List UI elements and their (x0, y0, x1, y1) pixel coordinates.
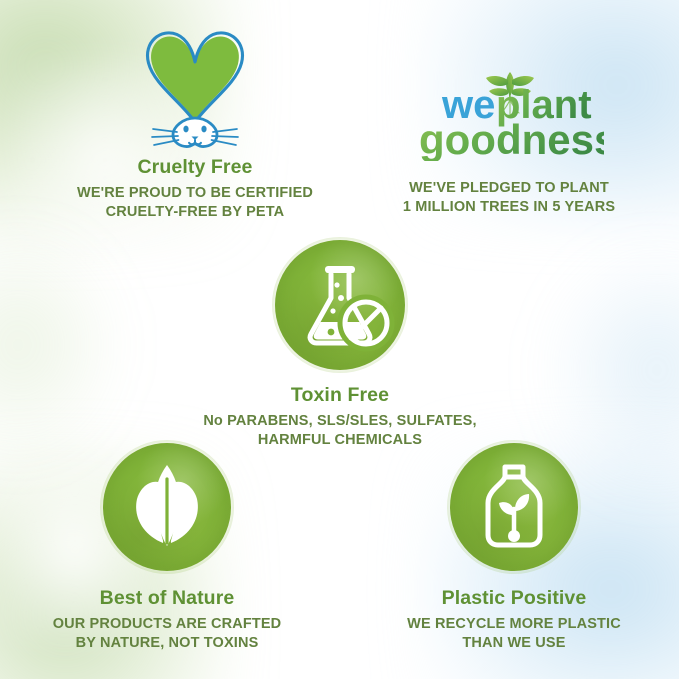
badge-title: Best of Nature (17, 587, 317, 610)
peta-bunny-heart-icon (133, 22, 257, 150)
icon-disc (450, 443, 578, 571)
icon-disc (275, 240, 405, 370)
badge-title: Plastic Positive (364, 587, 664, 610)
badge-plastic-positive: Plastic Positive WE RECYCLE MORE PLASTIC… (364, 443, 664, 653)
flask-prohibited-icon (275, 240, 405, 370)
badge-description: WE'VE PLEDGED TO PLANT 1 MILLION TREES I… (359, 179, 659, 217)
three-leaves-icon (103, 443, 231, 571)
badge-title: Cruelty Free (25, 156, 365, 179)
we-plant-goodness-logo: we plant goodness (414, 56, 604, 161)
badge-description: WE'RE PROUD TO BE CERTIFIED CRUELTY-FREE… (25, 184, 365, 222)
badge-grid: Cruelty Free WE'RE PROUD TO BE CERTIFIED… (0, 0, 679, 679)
logo-word-goodness: goodness (419, 116, 604, 161)
badge-best-of-nature: Best of Nature OUR PRODUCTS ARE CRAFTED … (17, 443, 317, 653)
badge-toxin-free: Toxin Free No PARABENS, SLS/SLES, SULFAT… (190, 240, 490, 450)
badge-description: OUR PRODUCTS ARE CRAFTED BY NATURE, NOT … (17, 615, 317, 653)
badge-plant-goodness: we plant goodness WE'VE PLEDGED TO PLANT… (359, 56, 659, 217)
badge-cruelty-free: Cruelty Free WE'RE PROUD TO BE CERTIFIED… (25, 22, 365, 222)
bottle-sprout-icon (450, 443, 578, 571)
badge-description: WE RECYCLE MORE PLASTIC THAN WE USE (364, 615, 664, 653)
icon-disc (103, 443, 231, 571)
badge-title: Toxin Free (190, 384, 490, 407)
